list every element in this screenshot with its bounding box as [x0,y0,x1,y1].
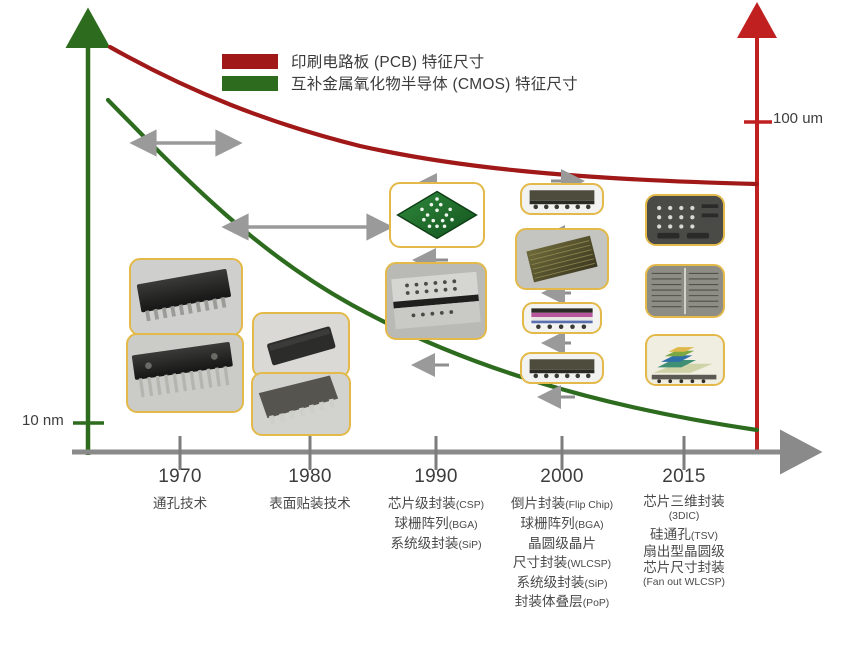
pop-cross-section [520,352,604,384]
item-cn: 晶圆级晶片 [528,536,596,551]
x-axis-column-2015: 2015 芯片三维封装 (3DIC) 硅通孔(TSV) 扇出型晶圆级 芯片尺寸封… [596,466,772,589]
item-cn: 封装体叠层 [515,594,583,609]
y-axis-right-tick-label: 100 um [773,110,823,127]
legend-swatch-red [222,54,278,69]
item-cn: 芯片尺寸封装 [643,560,725,575]
item-cn: 扇出型晶圆级 [643,544,725,559]
zip-package-photo [126,333,244,413]
fanout-wlcsp-render [645,334,725,386]
bga-die-photo [515,228,609,290]
item-cn: 尺寸封装 [513,555,567,570]
y-axis-left [73,30,104,455]
item-cn: 系统级封装 [516,575,584,590]
tsv-array-photo [645,264,725,318]
legend-item-cmos: 互补金属氧化物半导体 (CMOS) 特征尺寸 [222,72,578,94]
x-axis-year-label: 2015 [596,466,772,488]
chart-canvas: 印刷电路板 (PCB) 特征尺寸 互补金属氧化物半导体 (CMOS) 特征尺寸 … [0,0,850,666]
flipchip-cross-section [520,183,604,215]
smd-package-photo [252,312,350,378]
chart-legend: 印刷电路板 (PCB) 特征尺寸 互补金属氧化物半导体 (CMOS) 特征尺寸 [222,50,578,94]
legend-label-pcb: 印刷电路板 (PCB) 特征尺寸 [291,50,485,72]
item-cn: 球栅阵列 [520,516,574,531]
list-item: 扇出型晶圆级 [596,544,772,560]
item-cn: 硅通孔 [650,527,691,542]
list-item: (Fan out WLCSP) [596,576,772,589]
y-axis-right [744,22,772,452]
3dic-stack-photo [645,194,725,246]
bga-substrate-render [389,182,485,248]
wlcsp-cross-section [522,302,602,334]
legend-swatch-green [222,76,278,91]
x-axis-item-list: 芯片三维封装 (3DIC) 硅通孔(TSV) 扇出型晶圆级 芯片尺寸封装 (Fa… [596,494,772,589]
item-cn: 倒片封装 [511,496,565,511]
csp-package-photo [385,262,487,340]
dip-package-photo [129,258,243,336]
legend-item-pcb: 印刷电路板 (PCB) 特征尺寸 [222,50,578,72]
list-item: 硅通孔(TSV) [596,527,772,543]
list-item: 封装体叠层(PoP) [474,592,650,612]
y-axis-left-tick-label: 10 nm [22,412,64,429]
item-en: (TSV) [691,531,718,542]
item-cn: 球栅阵列 [394,516,448,531]
soic-package-photo [251,372,351,436]
item-en: (PoP) [583,598,610,609]
item-cn: 芯片级封装 [388,496,456,511]
item-cn: 系统级封装 [390,536,458,551]
legend-label-cmos: 互补金属氧化物半导体 (CMOS) 特征尺寸 [291,72,578,94]
x-axis [72,436,800,470]
list-item: (3DIC) [596,510,772,523]
item-cn: 芯片三维封装 [643,494,725,509]
list-item: 芯片三维封装 [596,494,772,510]
list-item: 芯片尺寸封装 [596,560,772,576]
